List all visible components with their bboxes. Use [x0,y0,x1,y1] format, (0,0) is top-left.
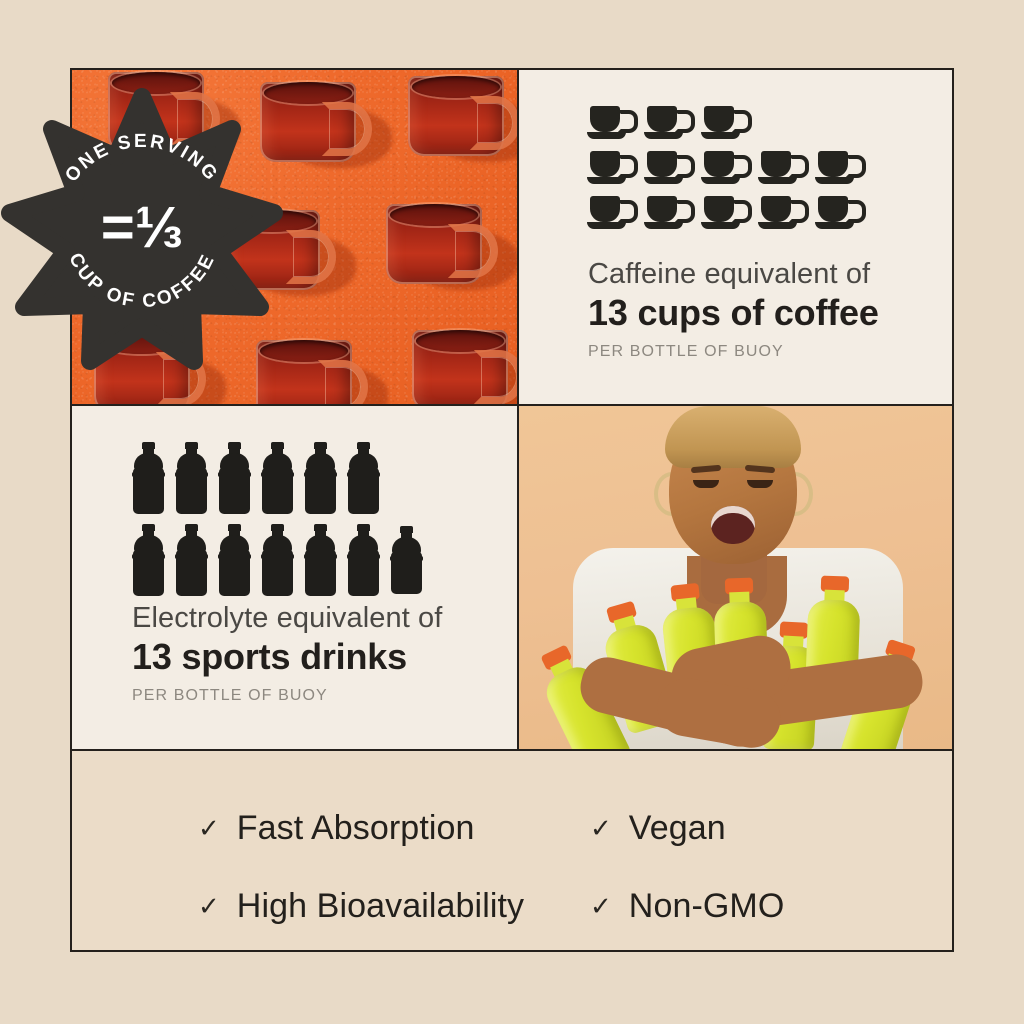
check-icon: ✓ [198,893,220,919]
benefit-item-high-bioavailability: ✓ High Bioavailability [198,887,590,926]
infographic-canvas: Caffeine equivalent of 13 cups of coffee… [0,0,1024,1024]
benefit-item-vegan: ✓ Vegan [590,809,726,848]
coffee-cup-icon [701,106,744,139]
sports-drink-bottle-icon [218,442,251,514]
benefit-item-fast-absorption: ✓ Fast Absorption [198,809,590,848]
sports-drink-bottle-icon [218,524,251,596]
hair [665,406,801,468]
benefits-row: ✓ High Bioavailability ✓ Non-GMO [198,867,898,945]
coffee-cup-icon [644,151,687,184]
caffeine-stat-text: Caffeine equivalent of 13 cups of coffee… [588,258,879,361]
sports-drink-bottle-icon [347,524,380,596]
caffeine-headline: Caffeine equivalent of [588,258,879,290]
coffee-cup-icon [587,106,630,139]
sports-drink-bottle-icon [390,526,423,594]
sports-drink-bottle-icon [175,442,208,514]
bottle-icon-grid [132,442,423,596]
bottle-icon-row [132,524,423,596]
coffee-cup-icon [587,196,630,229]
sports-drink-bottle-icon [304,442,337,514]
caffeine-subtext: PER BOTTLE OF BUOY [588,343,879,361]
coffee-mug [402,70,519,164]
coffee-cup-icon-grid [587,106,858,229]
badge-center-text: =⅓ [101,195,183,260]
open-mouth [711,506,755,544]
check-icon: ✓ [198,815,220,841]
benefit-label: Fast Absorption [237,809,475,848]
coffee-cup-icon [758,151,801,184]
benefits-row: ✓ Fast Absorption ✓ Vegan [198,789,898,867]
coffee-cup-icon [701,151,744,184]
sports-drink-bottle-icon [261,524,294,596]
coffee-cup-icon [815,151,858,184]
eye [747,480,773,488]
benefits-grid: ✓ Fast Absorption ✓ Vegan ✓ High Bioavai… [198,789,898,945]
electrolyte-headline: Electrolyte equivalent of [132,602,442,634]
benefit-label: Non-GMO [629,887,785,926]
sports-drink-bottle-icon [347,442,380,514]
coffee-cup-icon [644,106,687,139]
sports-drink-bottle-icon [132,442,165,514]
sports-drink-bottle-icon [175,524,208,596]
coffee-cup-icon [701,196,744,229]
coffee-mug [380,196,500,292]
benefit-item-non-gmo: ✓ Non-GMO [590,887,784,926]
electrolyte-value: 13 sports drinks [132,636,442,678]
check-icon: ✓ [590,815,612,841]
benefit-label: High Bioavailability [237,887,524,926]
electrolyte-stat-panel: Electrolyte equivalent of 13 sports drin… [72,406,519,751]
coffee-mug [406,322,519,406]
coffee-cup-icon [815,196,858,229]
benefit-label: Vegan [629,809,726,848]
coffee-cup-icon [587,151,630,184]
sports-drink-bottle-icon [304,524,337,596]
coffee-cup-icon-row [587,196,858,229]
sports-drink-bottle-icon [132,524,165,596]
eye [693,480,719,488]
woman-holding-sports-drinks-photo [519,406,952,751]
one-serving-starburst-badge: ONE SERVING =⅓ CUP OF COFFEE [8,95,276,363]
check-icon: ✓ [590,893,612,919]
bottle-icon-row [132,442,423,514]
coffee-cup-icon [758,196,801,229]
benefits-panel: ✓ Fast Absorption ✓ Vegan ✓ High Bioavai… [72,751,952,950]
electrolyte-stat-text: Electrolyte equivalent of 13 sports drin… [132,602,442,705]
coffee-cup-icon-row [587,151,858,184]
coffee-cup-icon [644,196,687,229]
caffeine-value: 13 cups of coffee [588,292,879,334]
starburst-svg: ONE SERVING =⅓ CUP OF COFFEE [8,95,276,363]
sports-drink-bottle-icon [261,442,294,514]
coffee-cup-icon-row [587,106,858,139]
electrolyte-subtext: PER BOTTLE OF BUOY [132,687,442,705]
caffeine-stat-panel: Caffeine equivalent of 13 cups of coffee… [519,70,952,406]
